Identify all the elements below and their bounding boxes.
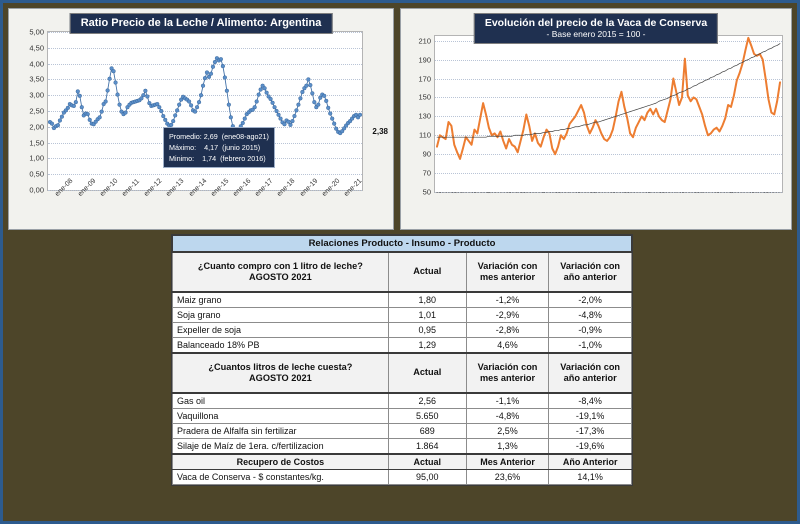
y-axis-tick-label: 2,00 <box>29 122 44 131</box>
series-marker <box>310 91 314 95</box>
chart-right-title-main: Evolución del precio de la Vaca de Conse… <box>485 17 707 29</box>
y-axis-tick-label: 5,00 <box>29 28 44 37</box>
series-marker <box>177 103 181 107</box>
chart-left-x-axis: ene-08ene-09ene-10ene-11ene-12ene-13ene-… <box>48 190 362 230</box>
relations-table-block: Relaciones Producto - Insumo - Producto … <box>171 234 633 486</box>
group1-cell-actual: 1,80 <box>388 292 466 308</box>
y-axis-tick-label: 110 <box>419 131 431 140</box>
series-marker <box>324 99 328 103</box>
group1-cell-month: -1,2% <box>466 292 549 308</box>
group3-col-actual: Actual <box>388 454 466 470</box>
series-marker <box>223 76 227 80</box>
group2-col-actual: Actual <box>388 353 466 393</box>
group3-title: Recupero de Costos <box>173 454 389 470</box>
series-marker <box>308 83 312 87</box>
group1-question-line2: AGOSTO 2021 <box>249 272 312 282</box>
series-marker <box>86 112 90 116</box>
series-marker <box>187 100 191 104</box>
table-row: Pradera de Alfalfa sin fertilizar6892,5%… <box>173 424 632 439</box>
y-axis-tick-label: 1,00 <box>29 154 44 163</box>
group2-col-year: Variación con año anterior <box>549 353 632 393</box>
group1-cell-month: -2,8% <box>466 323 549 338</box>
series-marker <box>316 103 320 107</box>
series-marker <box>279 117 283 121</box>
y-axis-tick-label: 4,00 <box>29 59 44 68</box>
group1-cell-month: -2,9% <box>466 308 549 323</box>
series-marker <box>299 97 303 101</box>
table-banner-row: Relaciones Producto - Insumo - Producto <box>173 236 632 253</box>
stat-line-0: Promedio: 2,69 (ene08-ago21) <box>169 131 269 142</box>
table-banner: Relaciones Producto - Insumo - Producto <box>173 236 632 253</box>
group3-cell-year: 14,1% <box>549 470 632 485</box>
relations-table: Relaciones Producto - Insumo - Producto … <box>172 235 632 485</box>
group1-cell-year: -0,9% <box>549 323 632 338</box>
series-marker <box>243 117 247 121</box>
group3-cell-actual: 95,00 <box>388 470 466 485</box>
group1-col-actual: Actual <box>388 252 466 292</box>
group1-cell-name: Expeller de soja <box>173 323 389 338</box>
series-marker <box>171 119 175 123</box>
y-axis-tick-label: 0,00 <box>29 186 44 195</box>
series-marker <box>193 110 197 114</box>
group1-question-line1: ¿Cuanto compro con 1 litro de leche? <box>198 261 363 271</box>
y-axis-tick-label: 210 <box>418 36 431 45</box>
series-marker <box>326 106 330 110</box>
group2-cell-year: -8,4% <box>549 393 632 409</box>
series-marker <box>301 90 305 94</box>
y-axis-tick-label: 3,00 <box>29 91 44 100</box>
series-marker <box>253 105 257 109</box>
series-marker <box>74 100 78 104</box>
series-marker <box>269 97 273 101</box>
group2-cell-actual: 1.864 <box>388 439 466 455</box>
group2-col-month: Variación con mes anterior <box>466 353 549 393</box>
y-axis-tick-label: 170 <box>418 74 431 83</box>
group2-cell-actual: 2,56 <box>388 393 466 409</box>
series-marker <box>76 90 80 94</box>
series-marker <box>263 86 267 90</box>
series-marker <box>88 118 92 122</box>
series-marker <box>78 94 82 98</box>
group1-cell-actual: 1,29 <box>388 338 466 354</box>
series-marker <box>289 123 293 127</box>
table-row: Vaca de Conserva - $ constantes/kg.95,00… <box>173 470 632 485</box>
slide-canvas: Ratio Precio de la Leche / Alimento: Arg… <box>3 3 797 521</box>
series-marker <box>277 113 281 117</box>
group1-cell-actual: 0,95 <box>388 323 466 338</box>
series-marker <box>293 114 297 118</box>
group2-col-month-l1: Variación con <box>478 362 538 372</box>
y-axis-tick-label: 3,50 <box>29 75 44 84</box>
series-marker <box>291 119 295 123</box>
group1-question: ¿Cuanto compro con 1 litro de leche? AGO… <box>173 252 389 292</box>
series-marker <box>197 100 201 104</box>
chart-right-subtitle: - Base enero 2015 = 100 - <box>485 30 707 40</box>
chart-left-end-value-label: 2,38 <box>372 127 388 136</box>
series-marker <box>213 60 217 64</box>
group2-cell-year: -19,1% <box>549 409 632 424</box>
series-marker <box>104 100 108 104</box>
series-marker <box>255 100 259 104</box>
series-marker <box>144 89 148 93</box>
group1-col-month-l1: Variación con <box>478 261 538 271</box>
series-marker <box>328 112 332 116</box>
group2-question-line2: AGOSTO 2021 <box>249 373 312 383</box>
group1-cell-year: -4,8% <box>549 308 632 323</box>
series-marker <box>241 121 245 125</box>
group2-cell-month: -4,8% <box>466 409 549 424</box>
series-line-0 <box>437 38 780 159</box>
chart-left-plot-area: 0,000,501,001,502,002,503,003,504,004,50… <box>47 31 363 191</box>
group2-question-line1: ¿Cuantos litros de leche cuesta? <box>208 362 352 372</box>
group2-cell-name: Gas oil <box>173 393 389 409</box>
group3-col-year: Año Anterior <box>549 454 632 470</box>
series-marker <box>209 72 213 76</box>
chart-panel-cow-price: Evolución del precio de la Vaca de Conse… <box>400 8 792 230</box>
group2-cell-year: -19,6% <box>549 439 632 455</box>
series-marker <box>199 93 203 97</box>
series-marker <box>98 115 102 119</box>
series-marker <box>60 115 64 119</box>
group2-question: ¿Cuantos litros de leche cuesta? AGOSTO … <box>173 353 389 393</box>
group3-cell-name: Vaca de Conserva - $ constantes/kg. <box>173 470 389 485</box>
group2-cell-name: Pradera de Alfalfa sin fertilizar <box>173 424 389 439</box>
series-marker <box>161 114 165 118</box>
series-marker <box>283 122 287 126</box>
series-marker <box>211 65 215 69</box>
y-axis-tick-label: 0,50 <box>29 170 44 179</box>
series-marker <box>203 76 207 80</box>
series-marker <box>50 122 54 126</box>
series-marker <box>118 103 122 107</box>
group2-cell-actual: 689 <box>388 424 466 439</box>
chart-right-series-svg <box>435 36 782 192</box>
group2-col-year-l2: año anterior <box>564 373 617 383</box>
series-marker <box>221 64 225 68</box>
series-marker <box>271 101 275 105</box>
series-marker <box>322 94 326 98</box>
y-axis-tick-label: 150 <box>418 93 431 102</box>
group1-cell-month: 4,6% <box>466 338 549 354</box>
group1-cell-actual: 1,01 <box>388 308 466 323</box>
series-marker <box>112 69 116 73</box>
series-marker <box>124 111 128 115</box>
series-marker <box>142 93 146 97</box>
y-axis-tick-label: 1,50 <box>29 138 44 147</box>
table-row: Expeller de soja0,95-2,8%-0,9% <box>173 323 632 338</box>
x-axis-tick-label: dic-21 <box>781 192 782 193</box>
series-marker <box>163 118 167 122</box>
series-marker <box>330 117 334 121</box>
group1-cell-name: Maiz grano <box>173 292 389 308</box>
series-marker <box>275 109 279 113</box>
group2-cell-name: Vaquillona <box>173 409 389 424</box>
group1-col-month: Variación con mes anterior <box>466 252 549 292</box>
y-axis-tick-label: 70 <box>423 169 431 178</box>
series-marker <box>295 109 299 113</box>
group2-cell-month: 1,3% <box>466 439 549 455</box>
group1-cell-year: -1,0% <box>549 338 632 354</box>
series-marker <box>259 88 263 92</box>
group1-cell-name: Balanceado 18% PB <box>173 338 389 354</box>
series-marker <box>195 105 199 109</box>
series-marker <box>173 114 177 118</box>
series-marker <box>227 103 231 107</box>
series-marker <box>145 95 149 99</box>
chart-right-x-axis: ene-12feb-12mar-12abr-12may-12jun-12jul-… <box>435 192 782 226</box>
stat-line-2: Minimo: 1,74 (febrero 2016) <box>169 153 269 164</box>
group3-col-month: Mes Anterior <box>466 454 549 470</box>
group1-cell-name: Soja grano <box>173 308 389 323</box>
group1-col-month-l2: mes anterior <box>480 272 535 282</box>
group2-cell-actual: 5.650 <box>388 409 466 424</box>
group3-cell-month: 23,6% <box>466 470 549 485</box>
y-axis-tick-label: 4,50 <box>29 43 44 52</box>
group2-col-year-l1: Variación con <box>560 362 620 372</box>
y-axis-tick-label: 90 <box>423 150 431 159</box>
group1-col-year-l2: año anterior <box>564 272 617 282</box>
group2-header-row: ¿Cuantos litros de leche cuesta? AGOSTO … <box>173 353 632 393</box>
group2-cell-month: -1,1% <box>466 393 549 409</box>
series-marker <box>306 78 310 82</box>
series-marker <box>58 119 62 123</box>
series-marker <box>257 93 261 97</box>
series-marker <box>201 84 205 88</box>
group1-cell-year: -2,0% <box>549 292 632 308</box>
series-marker <box>297 103 301 107</box>
series-marker <box>108 77 112 81</box>
group2-cell-year: -17,3% <box>549 424 632 439</box>
stat-line-1: Máximo: 4,17 (junio 2015) <box>169 142 269 153</box>
series-marker <box>225 89 229 93</box>
chart-panel-milk-feed-ratio: Ratio Precio de la Leche / Alimento: Arg… <box>8 8 394 230</box>
series-marker <box>106 89 110 93</box>
series-marker <box>175 109 179 113</box>
series-marker <box>157 105 161 109</box>
series-marker <box>332 122 336 126</box>
table-row: Silaje de Maíz de 1era. c/fertilizacion1… <box>173 439 632 455</box>
series-marker <box>80 105 84 109</box>
y-axis-tick-label: 190 <box>418 55 431 64</box>
series-marker <box>304 84 308 88</box>
series-marker <box>358 113 362 117</box>
series-marker <box>72 104 76 108</box>
series-marker <box>219 57 223 61</box>
table-row: Soja grano1,01-2,9%-4,8% <box>173 308 632 323</box>
table-row: Balanceado 18% PB1,294,6%-1,0% <box>173 338 632 354</box>
table-row: Vaquillona5.650-4,8%-19,1% <box>173 409 632 424</box>
group1-col-year: Variación con año anterior <box>549 252 632 292</box>
y-axis-tick-label: 50 <box>423 188 431 197</box>
y-axis-tick-label: 2,50 <box>29 107 44 116</box>
series-marker <box>189 103 193 107</box>
group2-col-month-l2: mes anterior <box>480 373 535 383</box>
series-marker <box>100 110 104 114</box>
group1-col-year-l1: Variación con <box>560 261 620 271</box>
series-marker <box>205 71 209 75</box>
series-marker <box>114 81 118 85</box>
series-marker <box>273 105 277 109</box>
series-marker <box>159 109 163 113</box>
series-marker <box>56 123 60 127</box>
chart-left-stats-box: Promedio: 2,69 (ene08-ago21)Máximo: 4,17… <box>163 127 275 168</box>
group1-header-row: ¿Cuanto compro con 1 litro de leche? AGO… <box>173 252 632 292</box>
series-marker <box>229 115 233 119</box>
chart-left-title: Ratio Precio de la Leche / Alimento: Arg… <box>70 13 333 34</box>
chart-right-title: Evolución del precio de la Vaca de Conse… <box>474 13 718 44</box>
group2-cell-month: 2,5% <box>466 424 549 439</box>
series-marker <box>312 100 316 104</box>
group3-header-row: Recupero de Costos Actual Mes Anterior A… <box>173 454 632 470</box>
table-row: Gas oil2,56-1,1%-8,4% <box>173 393 632 409</box>
series-marker <box>66 106 70 110</box>
y-axis-tick-label: 130 <box>418 112 431 121</box>
chart-right-plot-area: 507090110130150170190210 ene-12feb-12mar… <box>434 35 783 193</box>
series-marker <box>265 91 269 95</box>
series-marker <box>116 93 120 97</box>
table-row: Maiz grano1,80-1,2%-2,0% <box>173 292 632 308</box>
group2-cell-name: Silaje de Maíz de 1era. c/fertilizacion <box>173 439 389 455</box>
